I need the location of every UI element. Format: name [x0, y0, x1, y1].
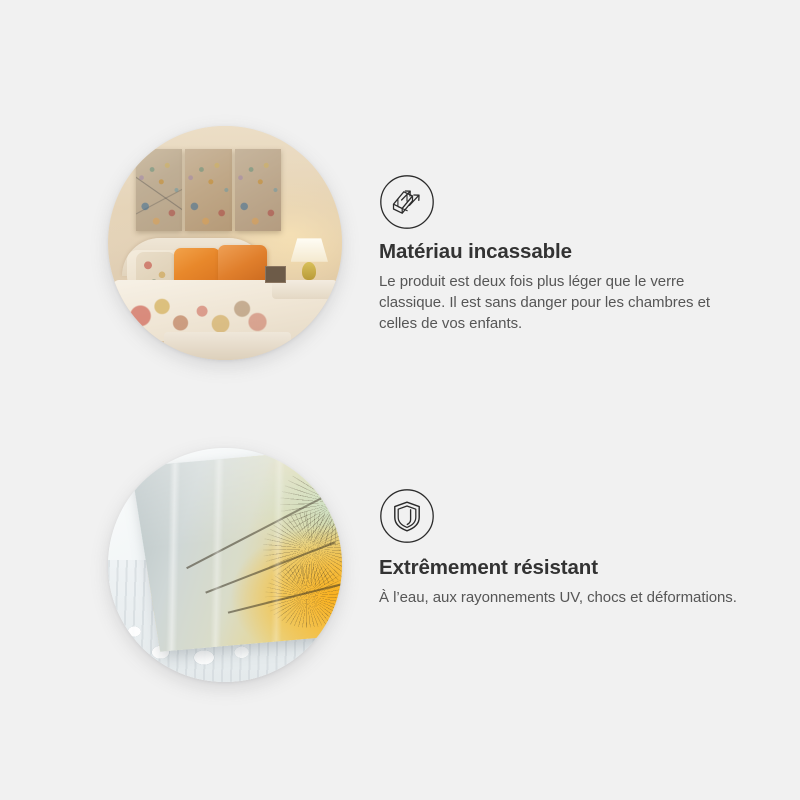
art-panel-left	[136, 149, 182, 231]
art-panel-center	[185, 149, 231, 231]
lamp-base	[302, 262, 316, 281]
bed-frame-foot	[164, 332, 290, 360]
feature-block-extremely-resistant: Extrêmement résistant À l’eau, aux rayon…	[0, 448, 800, 688]
shield-icon	[379, 488, 435, 544]
feature-heading: Matériau incassable	[379, 240, 749, 265]
feature-description: À l’eau, aux rayonnements UV, chocs et d…	[379, 587, 749, 608]
photo-frame	[265, 266, 286, 282]
feature-heading: Extrêmement résistant	[379, 556, 749, 581]
feature-highlights-page: Matériau incassable Le produit est deux …	[0, 0, 800, 800]
paisley-bedspread-pattern	[122, 290, 276, 337]
art-panel-right	[235, 149, 281, 231]
feature-image-bedroom-triptych	[108, 126, 342, 360]
printed-glass-panel	[131, 448, 342, 652]
feature-block-unbreakable-material: Matériau incassable Le produit est deux …	[0, 126, 800, 366]
flexible-layers-arrows-icon	[379, 174, 435, 230]
bedroom-scene	[108, 126, 342, 360]
feature-text-extremely-resistant: Extrêmement résistant À l’eau, aux rayon…	[379, 556, 749, 608]
dandelion-glass-scene	[108, 448, 342, 682]
nightstand	[272, 280, 338, 299]
triptych-wall-art	[136, 149, 281, 231]
feature-text-unbreakable-material: Matériau incassable Le produit est deux …	[379, 240, 749, 334]
feature-image-glass-panel-dandelion	[108, 448, 342, 682]
feature-description: Le produit est deux fois plus léger que …	[379, 271, 749, 335]
glass-sheen	[131, 448, 342, 652]
